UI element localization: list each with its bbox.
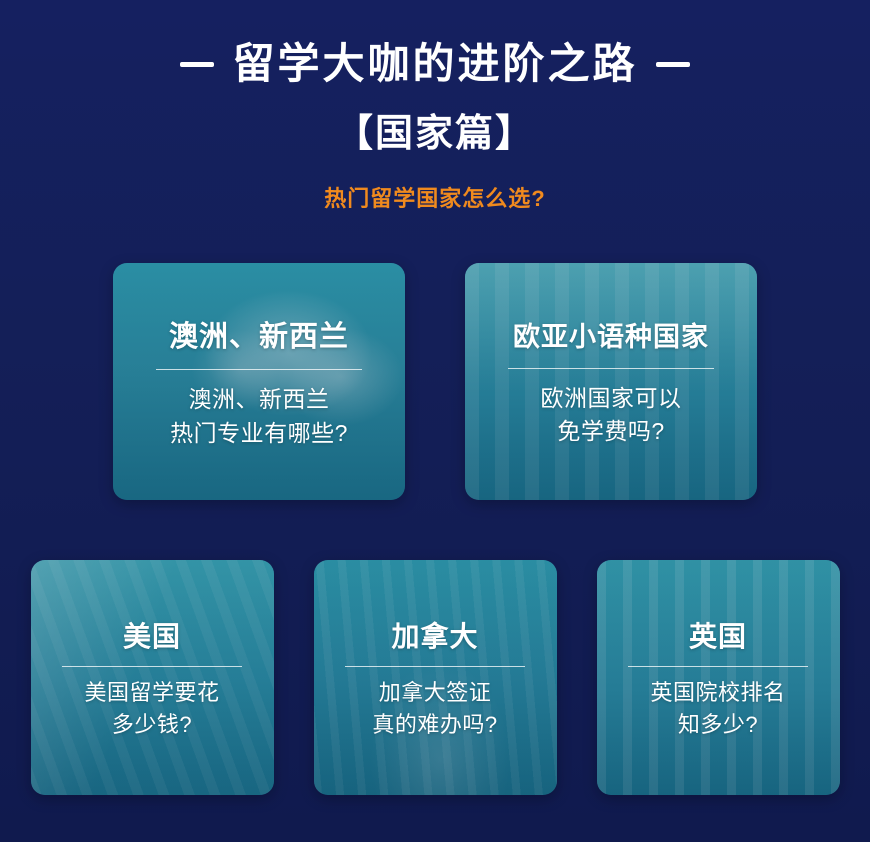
card-australia-newzealand[interactable]: 澳洲、新西兰 澳洲、新西兰 热门专业有哪些? — [113, 263, 405, 500]
card-divider — [345, 666, 526, 667]
card-heading: 英国 — [689, 615, 747, 655]
page-subtitle: 【国家篇】 — [0, 102, 870, 157]
card-question-line1: 欧洲国家可以 — [541, 382, 682, 415]
card-question-line1: 澳洲、新西兰 — [189, 383, 330, 416]
card-europe-asia-minor-languages[interactable]: 欧亚小语种国家 欧洲国家可以 免学费吗? — [465, 263, 757, 500]
card-divider — [156, 369, 362, 370]
page-tagline: 热门留学国家怎么选? — [0, 181, 870, 213]
poster-header: 留学大咖的进阶之路 【国家篇】 热门留学国家怎么选? — [0, 0, 870, 213]
title-row: 留学大咖的进阶之路 — [0, 40, 870, 88]
card-question-line2: 免学费吗? — [557, 415, 664, 448]
card-uk[interactable]: 英国 英国院校排名 知多少? — [597, 560, 840, 795]
card-content: 澳洲、新西兰 澳洲、新西兰 热门专业有哪些? — [113, 263, 405, 500]
card-heading: 加拿大 — [391, 615, 478, 655]
card-divider — [62, 666, 243, 667]
card-heading: 欧亚小语种国家 — [513, 315, 709, 354]
top-card-row: 澳洲、新西兰 澳洲、新西兰 热门专业有哪些? 欧亚小语种国家 欧洲国家可以 免学… — [0, 263, 870, 500]
card-content: 欧亚小语种国家 欧洲国家可以 免学费吗? — [465, 263, 757, 500]
dash-left-icon — [180, 62, 214, 67]
card-question-line2: 知多少? — [678, 709, 758, 741]
card-usa[interactable]: 美国 美国留学要花 多少钱? — [31, 560, 274, 795]
poster-page: 留学大咖的进阶之路 【国家篇】 热门留学国家怎么选? 澳洲、新西兰 澳洲、新西兰… — [0, 0, 870, 842]
card-question-line2: 多少钱? — [112, 709, 192, 741]
card-divider — [628, 666, 809, 667]
card-content: 加拿大 加拿大签证 真的难办吗? — [314, 560, 557, 795]
card-heading: 澳洲、新西兰 — [169, 313, 349, 355]
card-question-line1: 加拿大签证 — [379, 677, 492, 709]
card-content: 美国 美国留学要花 多少钱? — [31, 560, 274, 795]
card-question-line2: 热门专业有哪些? — [170, 417, 348, 450]
card-question-line2: 真的难办吗? — [372, 709, 497, 741]
dash-right-icon — [656, 62, 690, 67]
page-title: 留学大咖的进阶之路 — [232, 40, 637, 88]
card-divider — [508, 368, 714, 369]
card-heading: 美国 — [123, 615, 181, 655]
card-question-line1: 英国院校排名 — [650, 677, 785, 709]
card-question-line1: 美国留学要花 — [84, 677, 219, 709]
bottom-card-row: 美国 美国留学要花 多少钱? 加拿大 加拿大签证 真的难办吗? 英国 英国院校 — [0, 560, 870, 795]
card-canada[interactable]: 加拿大 加拿大签证 真的难办吗? — [314, 560, 557, 795]
card-content: 英国 英国院校排名 知多少? — [597, 560, 840, 795]
